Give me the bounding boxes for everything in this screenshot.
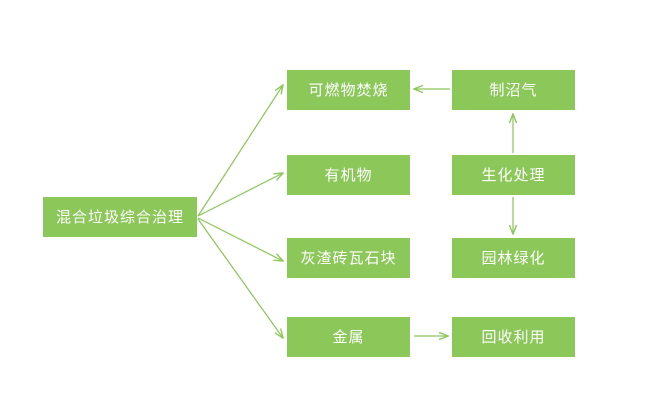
connector-root-to-burn: [198, 85, 283, 216]
node-combustible-incineration[interactable]: 可燃物焚烧: [287, 70, 410, 110]
connector-root-to-organic: [198, 173, 283, 216]
node-recycling-reuse[interactable]: 回收利用: [452, 317, 575, 357]
node-metal[interactable]: 金属: [287, 317, 410, 357]
node-biochemical-treatment[interactable]: 生化处理: [452, 155, 575, 195]
node-root[interactable]: 混合垃圾综合治理: [43, 197, 197, 237]
node-landscaping[interactable]: 园林绿化: [452, 238, 575, 278]
node-organic-matter[interactable]: 有机物: [287, 155, 410, 195]
node-ash-brick-tile-stone[interactable]: 灰渣砖瓦石块: [287, 238, 410, 278]
flowchart-diagram: 混合垃圾综合治理 可燃物焚烧 有机物 灰渣砖瓦石块 金属 制沼气 生化处理 园林…: [0, 0, 648, 416]
node-biogas-production[interactable]: 制沼气: [452, 70, 575, 110]
connector-root-to-ash: [198, 218, 283, 261]
connector-root-to-metal: [198, 219, 283, 338]
